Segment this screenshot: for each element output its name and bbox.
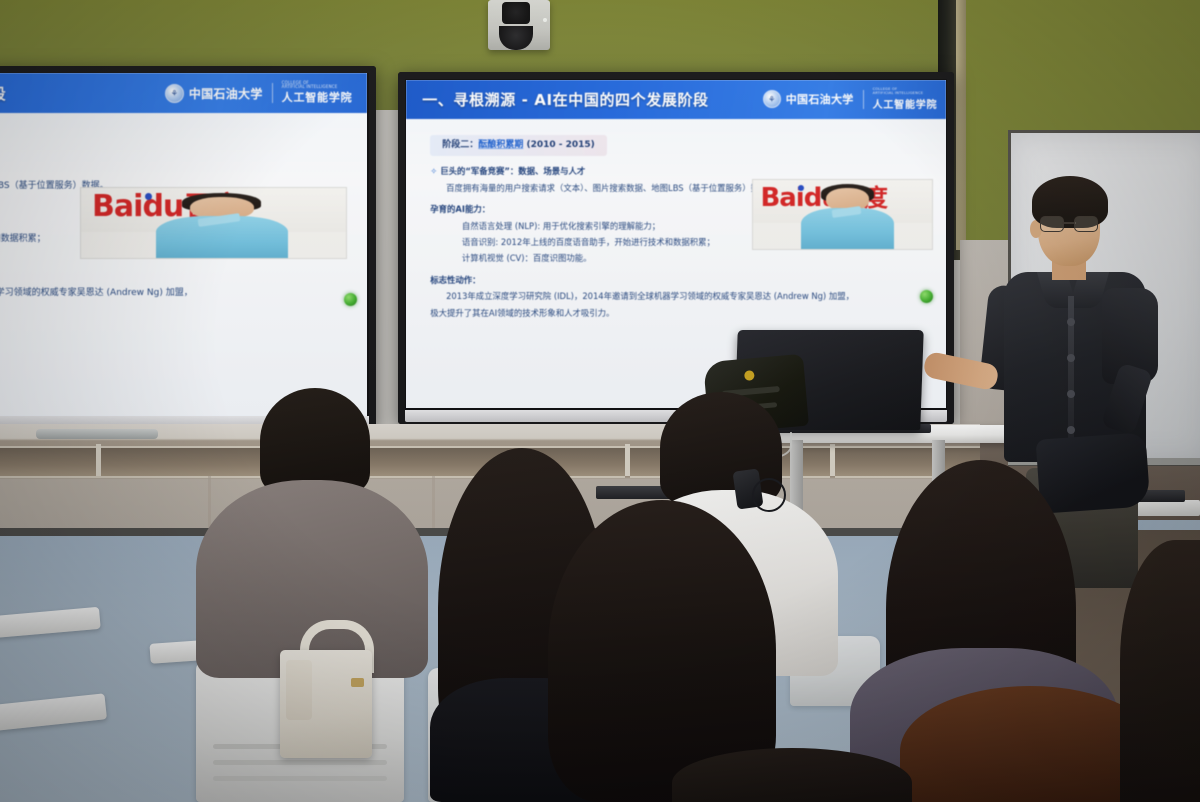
handbag-clasp-right — [351, 678, 364, 687]
cabinet-divider-1 — [96, 444, 101, 476]
presenter-button-4 — [1067, 426, 1075, 434]
chair-slat — [213, 760, 388, 765]
door-frame — [956, 0, 966, 250]
left-display-bezel — [0, 66, 376, 430]
camera-led — [543, 18, 547, 22]
presenter-button-1 — [1067, 318, 1075, 326]
audience-member-1-hair — [260, 388, 370, 494]
eyeglasses-icon — [1040, 216, 1098, 230]
handbag-side-flap — [286, 660, 312, 720]
camera-lens-lower — [499, 26, 533, 50]
presenter-button-3 — [1067, 390, 1075, 398]
soundbar-speaker — [36, 429, 158, 439]
audience-member-8 — [1120, 540, 1200, 802]
audience-member-7-hair — [672, 748, 912, 802]
presenter-button-2 — [1067, 354, 1075, 362]
audience-member-8-hair — [1120, 540, 1200, 802]
ceiling-camera — [488, 0, 550, 50]
audience-member-7 — [672, 748, 912, 802]
left-interactive-display[interactable]: 一、寻根溯源 - AI在中国的四个发展阶段 ⚘ 中国石油大学 COLLEGE O… — [0, 66, 376, 430]
classroom-photo: 一、寻根溯源 - AI在中国的四个发展阶段 ⚘ 中国石油大学 COLLEGE O… — [0, 0, 1200, 802]
camera-lens-upper — [502, 2, 530, 24]
backpack-buckle — [744, 370, 755, 381]
chair-slat — [213, 776, 388, 781]
